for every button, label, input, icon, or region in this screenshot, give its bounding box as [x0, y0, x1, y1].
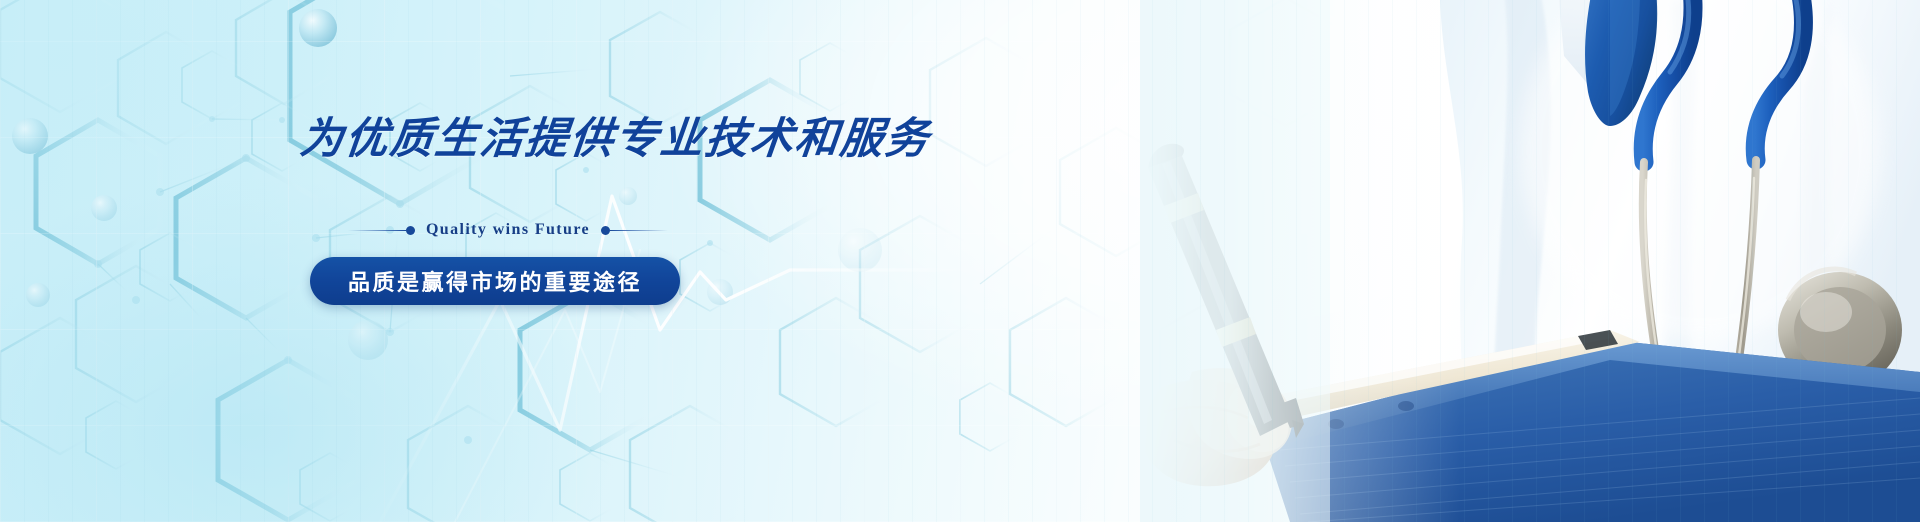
hero-banner: 为优质生活提供专业技术和服务 Quality wins Future 品质是赢得…: [0, 0, 1920, 522]
tagline-button[interactable]: 品质是赢得市场的重要途径: [310, 257, 680, 305]
subtitle-row: Quality wins Future: [348, 221, 668, 239]
left-bullet-dot-icon: [406, 226, 415, 235]
right-rule: [610, 230, 668, 231]
left-rule: [348, 230, 406, 231]
tagline-button-label: 品质是赢得市场的重要途径: [348, 265, 642, 297]
subtitle: Quality wins Future: [415, 221, 601, 239]
page-title: 为优质生活提供专业技术和服务: [298, 118, 943, 161]
right-bullet-dot-icon: [601, 226, 610, 235]
fine-grid-overlay: [0, 0, 1920, 522]
banner-copy: 为优质生活提供专业技术和服务 Quality wins Future 品质是赢得…: [300, 118, 940, 305]
